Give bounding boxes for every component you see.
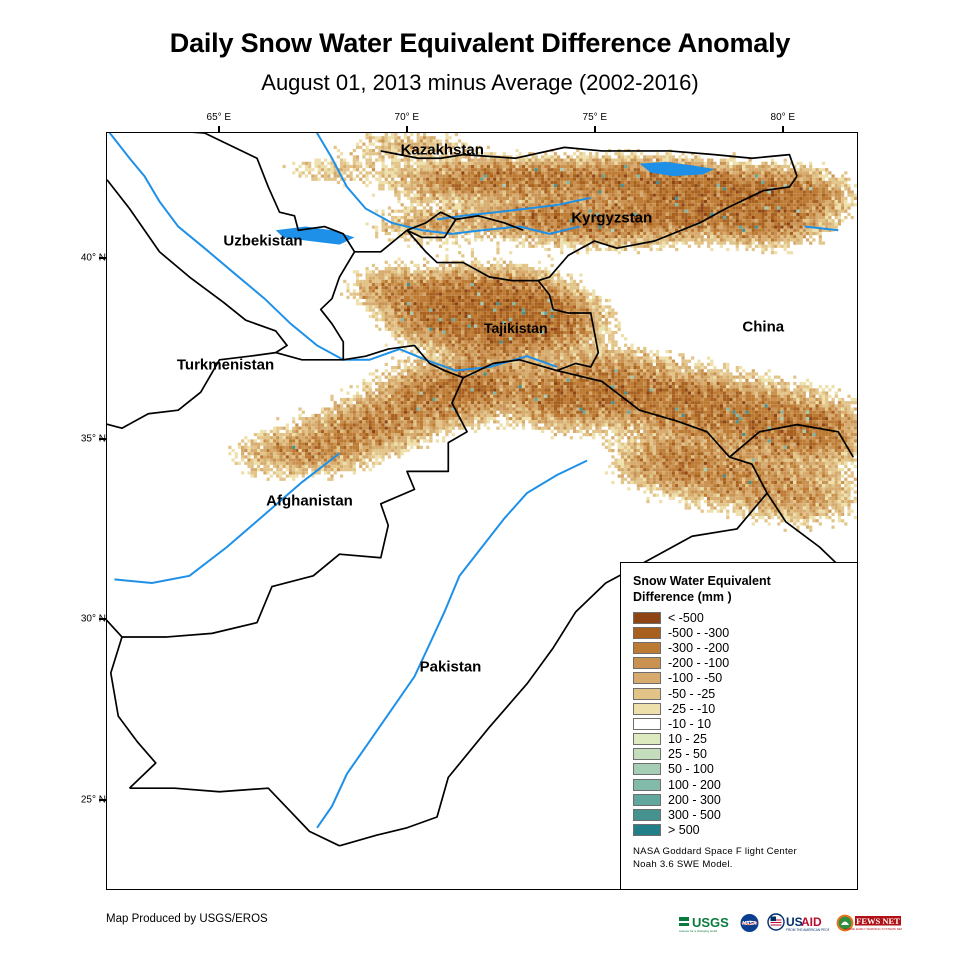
legend-row: 100 - 200: [633, 777, 845, 792]
legend-entries: < -500-500 - -300-300 - -200-200 - -100-…: [633, 610, 845, 838]
legend-title-line2: Difference (mm ): [633, 589, 845, 605]
country-label-afghanistan: Afghanistan: [266, 493, 353, 510]
legend-swatch: [633, 657, 661, 669]
nasa-logo: NASA: [739, 913, 760, 934]
usaid-logo: US AID FROM THE AMERICAN PEOPLE: [767, 913, 829, 934]
legend-swatch: [633, 718, 661, 730]
page-title: Daily Snow Water Equivalent Difference A…: [0, 28, 960, 59]
page-subtitle: August 01, 2013 minus Average (2002-2016…: [0, 70, 960, 96]
legend-label: -25 - -10: [668, 702, 715, 716]
country-label-tajikistan: Tajikistan: [484, 320, 548, 336]
footer-credit: Map Produced by USGS/EROS: [106, 913, 268, 925]
lon-tick-label: 65° E: [207, 112, 232, 123]
legend-swatch: [633, 779, 661, 791]
country-border: [111, 637, 156, 788]
legend-row: -100 - -50: [633, 671, 845, 686]
legend-row: 25 - 50: [633, 747, 845, 762]
legend-label: -100 - -50: [668, 671, 722, 685]
country-label-kazakhstan: Kazakhstan: [401, 141, 484, 158]
lat-tick-mark: [99, 799, 106, 801]
legend-label: 10 - 25: [668, 732, 707, 746]
legend-swatch: [633, 748, 661, 760]
legend-swatch: [633, 688, 661, 700]
legend-row: > 500: [633, 823, 845, 838]
legend-label: -50 - -25: [668, 687, 715, 701]
legend-swatch: [633, 763, 661, 775]
legend-label: > 500: [668, 823, 700, 837]
country-label-kyrgyzstan: Kyrgyzstan: [571, 210, 652, 227]
legend-row: < -500: [633, 610, 845, 625]
usgs-logo: USGS science for a changing world: [678, 913, 732, 934]
legend-label: -10 - 10: [668, 717, 711, 731]
lon-tick-label: 75° E: [583, 112, 608, 123]
legend-swatch: [633, 642, 661, 654]
country-label-china: China: [742, 318, 784, 335]
legend-label: -200 - -100: [668, 656, 729, 670]
legend-row: -300 - -200: [633, 640, 845, 655]
legend-swatch: [633, 794, 661, 806]
legend-row: -200 - -100: [633, 656, 845, 671]
legend-label: 50 - 100: [668, 762, 714, 776]
legend-row: -10 - 10: [633, 716, 845, 731]
lat-tick-mark: [99, 618, 106, 620]
legend-credit-line1: NASA Goddard Space F light Center: [633, 845, 845, 859]
legend-row: 200 - 300: [633, 792, 845, 807]
legend-title-line1: Snow Water Equivalent: [633, 573, 845, 589]
legend-title: Snow Water Equivalent Difference (mm ): [633, 573, 845, 605]
legend-row: -25 - -10: [633, 701, 845, 716]
legend-label: 300 - 500: [668, 808, 721, 822]
legend-label: 200 - 300: [668, 793, 721, 807]
legend-row: 300 - 500: [633, 807, 845, 822]
country-border: [321, 252, 355, 360]
country-label-turkmenistan: Turkmenistan: [177, 357, 274, 374]
legend-swatch: [633, 672, 661, 684]
legend-swatch: [633, 703, 661, 715]
legend-row: -50 - -25: [633, 686, 845, 701]
lat-tick-mark: [99, 257, 106, 259]
legend-row: 10 - 25: [633, 732, 845, 747]
country-label-pakistan: Pakistan: [420, 659, 482, 676]
fewsnet-logo: FEWS NET FAMINE EARLY WARNING SYSTEMS NE…: [836, 913, 902, 934]
lat-tick-mark: [99, 438, 106, 440]
legend-panel: Snow Water Equivalent Difference (mm ) <…: [620, 562, 858, 890]
legend-swatch: [633, 612, 661, 624]
legend-swatch: [633, 824, 661, 836]
legend-credit-line2: Noah 3.6 SWE Model.: [633, 858, 845, 872]
legend-label: -300 - -200: [668, 641, 729, 655]
legend-label: 100 - 200: [668, 778, 721, 792]
legend-swatch: [633, 809, 661, 821]
legend-label: 25 - 50: [668, 747, 707, 761]
lon-tick-label: 70° E: [395, 112, 420, 123]
country-label-uzbekistan: Uzbekistan: [223, 233, 302, 250]
legend-label: -500 - -300: [668, 626, 729, 640]
country-border: [107, 180, 287, 353]
legend-row: 50 - 100: [633, 762, 845, 777]
legend-row: -500 - -300: [633, 625, 845, 640]
legend-swatch: [633, 627, 661, 639]
legend-label: < -500: [668, 611, 704, 625]
country-border: [130, 788, 340, 846]
legend-swatch: [633, 733, 661, 745]
agency-logos: USGS science for a changing world NASA U…: [678, 908, 902, 938]
lon-tick-label: 80° E: [771, 112, 796, 123]
country-border: [107, 356, 250, 637]
legend-credit: NASA Goddard Space F light Center Noah 3…: [633, 845, 845, 872]
